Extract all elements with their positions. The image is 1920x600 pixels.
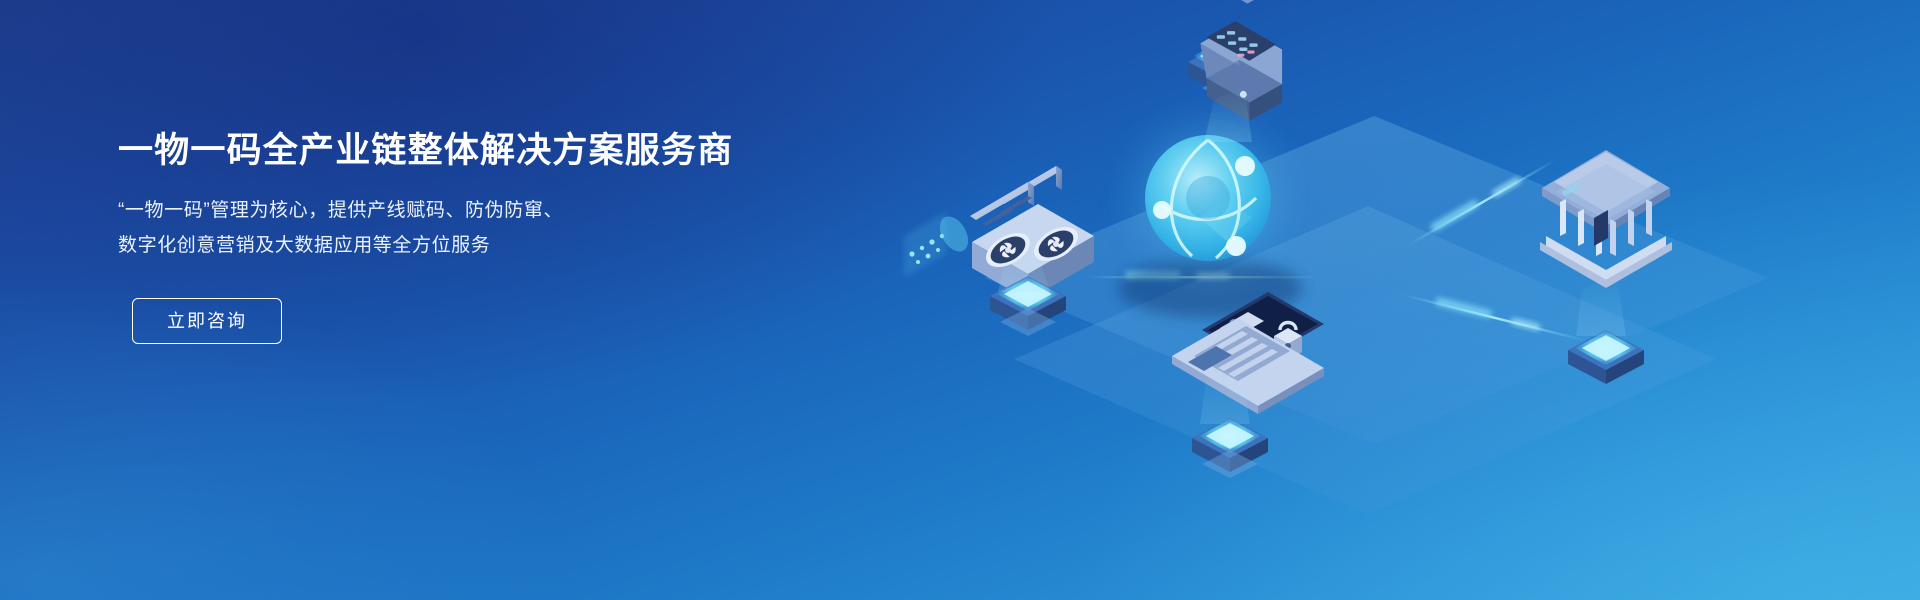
beam-bank <box>1576 272 1626 336</box>
server-fan-unit <box>904 166 1094 300</box>
pedestal-server <box>990 276 1066 336</box>
pedestal-pos <box>1188 38 1264 240</box>
central-sphere <box>1112 102 1304 318</box>
data-links <box>1088 155 1588 343</box>
platform-base <box>1014 206 1716 514</box>
pedestal-laptop <box>1192 418 1268 478</box>
bank-building <box>1540 150 1672 288</box>
airflow-particles <box>904 212 974 278</box>
consult-now-button[interactable]: 立即咨询 <box>132 298 282 344</box>
beam-server <box>998 248 1050 292</box>
beam-pos <box>1204 84 1252 142</box>
connection-beams <box>1150 150 1590 330</box>
pedestal-bank <box>1568 330 1644 384</box>
hero-description-line-1: “一物一码”管理为核心，提供产线赋码、防伪防窜、 <box>118 193 838 228</box>
platform-main <box>985 116 1768 444</box>
hero-banner: 一物一码全产业链整体解决方案服务商 “一物一码”管理为核心，提供产线赋码、防伪防… <box>0 0 1920 600</box>
laptop-security <box>1172 292 1324 414</box>
pos-terminal <box>1200 0 1282 121</box>
hero-description: “一物一码”管理为核心，提供产线赋码、防伪防窜、 数字化创意营销及大数据应用等全… <box>118 193 838 263</box>
isometric-network-illustration <box>900 0 1920 600</box>
hero-copy: 一物一码全产业链整体解决方案服务商 “一物一码”管理为核心，提供产线赋码、防伪防… <box>118 130 838 344</box>
page-title: 一物一码全产业链整体解决方案服务商 <box>118 130 838 171</box>
hero-description-line-2: 数字化创意营销及大数据应用等全方位服务 <box>118 228 838 263</box>
beam-laptop <box>1200 362 1250 424</box>
